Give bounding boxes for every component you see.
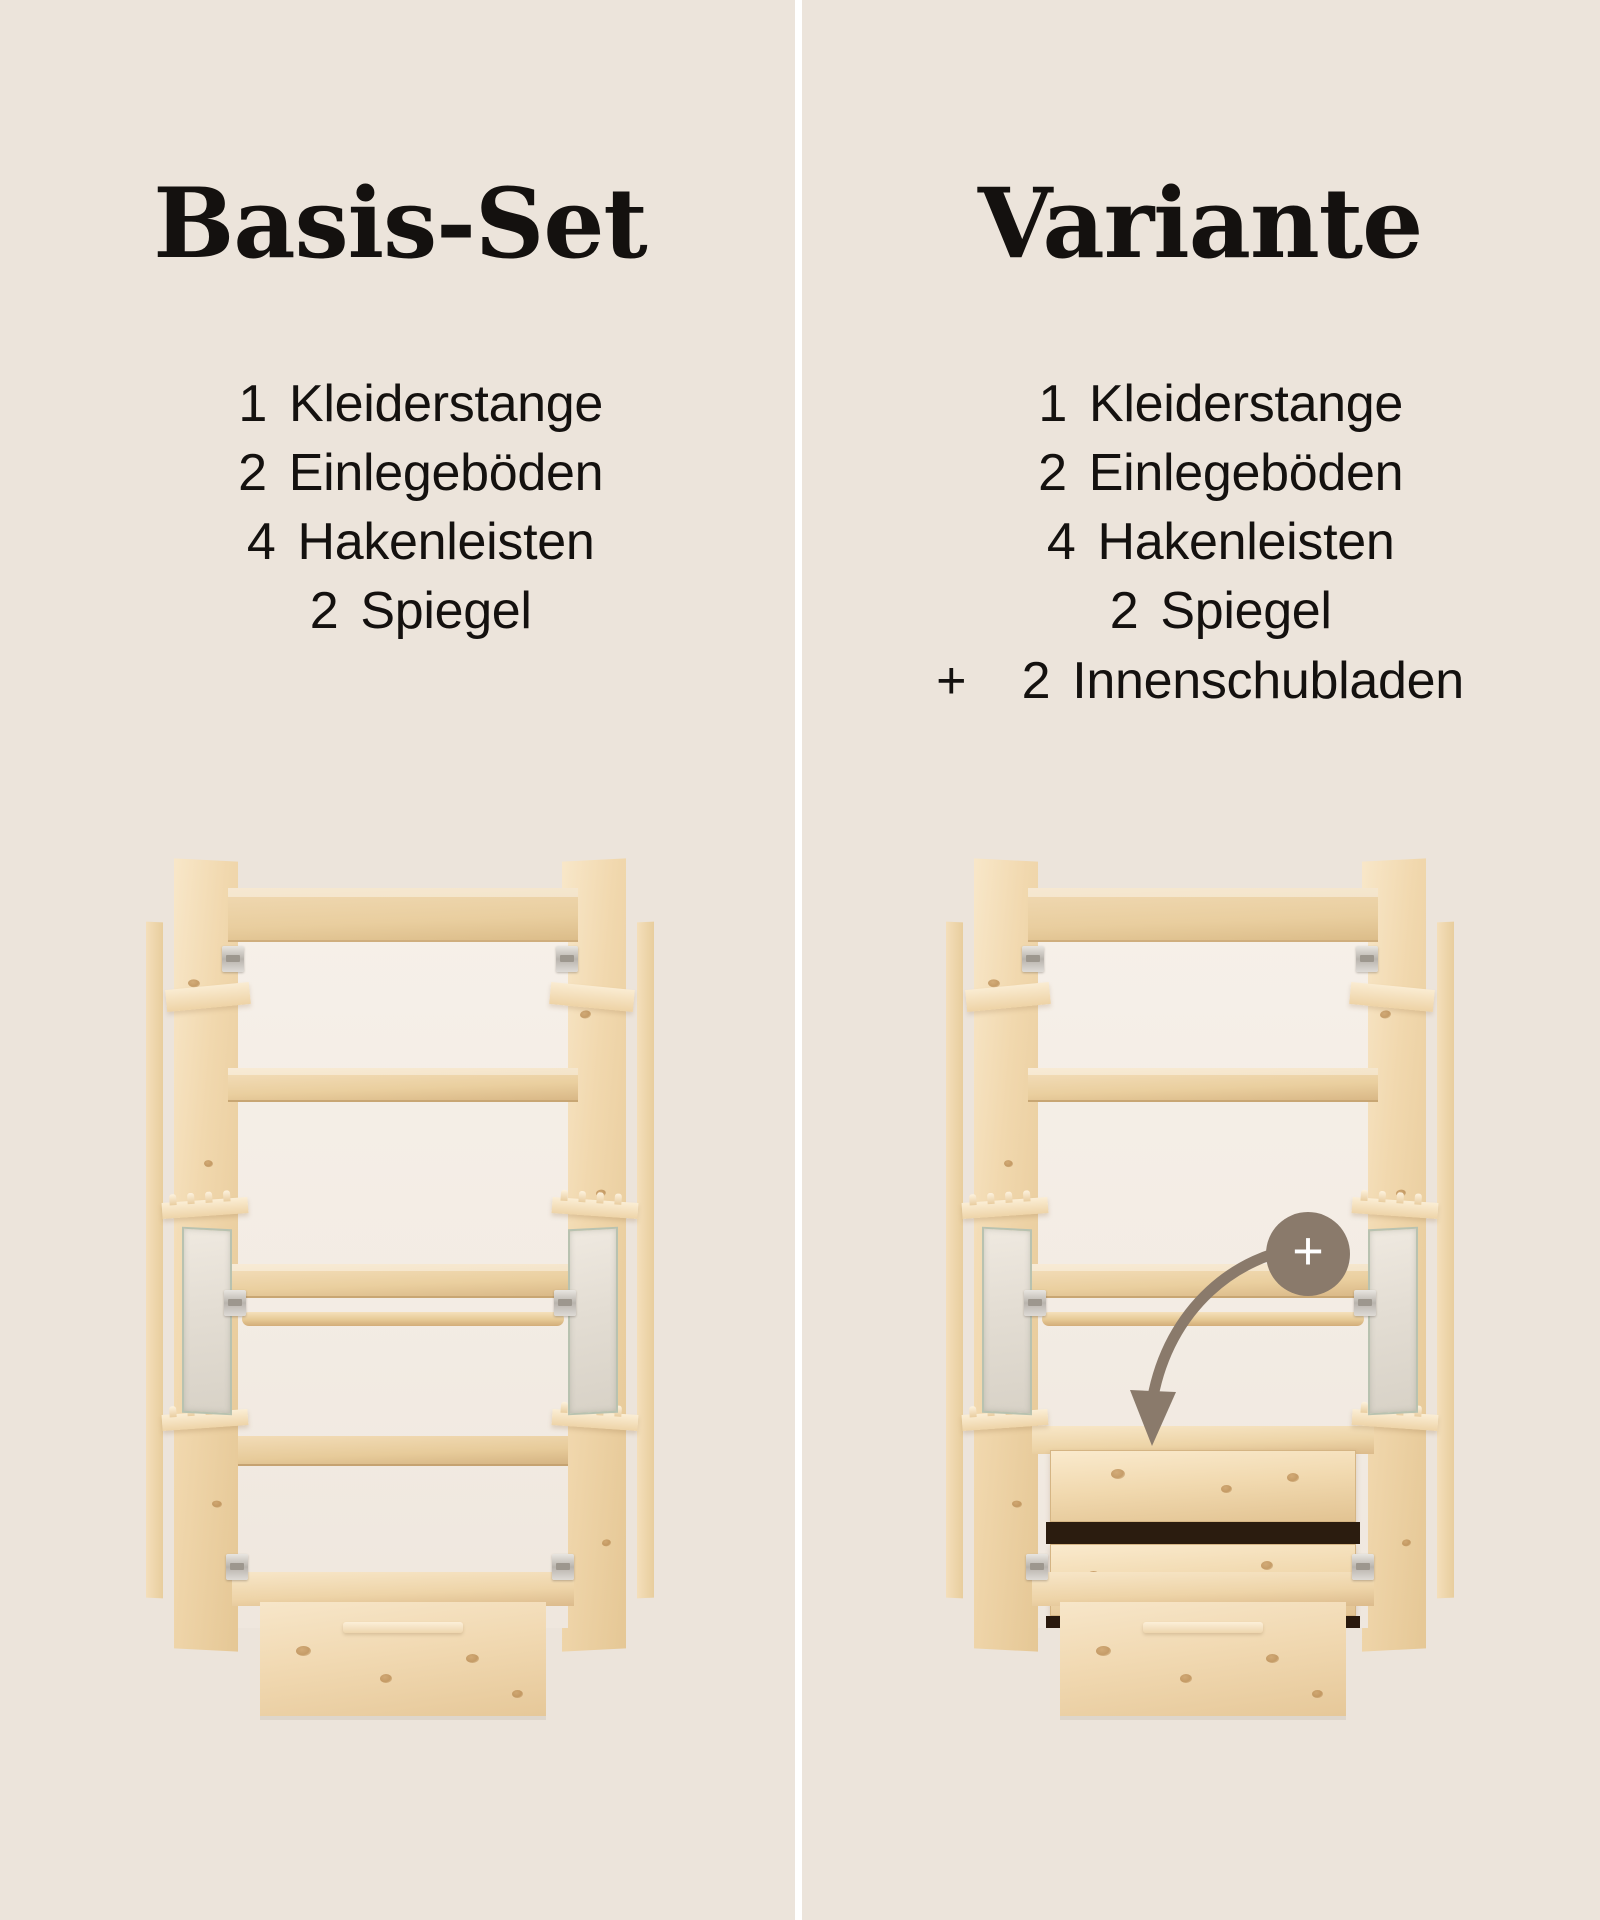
door-mirror-right [1368,1227,1418,1416]
drawer-shadow-gap [1046,1522,1360,1544]
wood-knot-icon [1180,1674,1192,1683]
hook-pin-icon [1005,1191,1013,1202]
base-drawer-handle [343,1622,463,1633]
door-mirror-left [182,1227,232,1416]
spec-label: Spiegel [360,577,531,646]
spec-row: 4 Hakenleisten [1005,508,1394,577]
wood-knot-icon [1096,1646,1111,1656]
spec-quantity: 2 [197,439,267,508]
hook-pin-icon [223,1190,231,1201]
base-drawer-handle [1143,1622,1263,1633]
spec-row: 4 Hakenleisten [205,508,594,577]
spec-label: Einlegeböden [289,439,603,508]
wood-knot-icon [602,1539,611,1546]
hook-pin-icon [614,1193,622,1204]
wood-knot-icon [466,1654,479,1663]
hinge-icon [554,1290,576,1316]
hinge-icon [1024,1290,1046,1316]
spec-label: Kleiderstange [289,370,603,439]
hook-pin-icon [560,1190,568,1201]
door-edge-right-icon [1437,922,1454,1599]
spec-label: Hakenleisten [1097,508,1394,577]
shelf-upper [1028,1068,1378,1102]
spec-quantity: 2 [997,439,1067,508]
spec-row: 2 Spiegel [1068,577,1331,646]
spec-list-variante: 1 Kleiderstange 2 Einlegeböden 4 Hakenle… [800,370,1600,716]
door-edge-left-icon [946,922,963,1599]
spec-row: 2 Einlegeböden [197,439,603,508]
door-edge-left-icon [146,922,163,1599]
hook-pin-icon [187,1193,195,1204]
plus-icon: + [1292,1224,1324,1278]
wood-knot-icon [1380,1010,1391,1019]
column-basis-set: Basis-Set 1 Kleiderstange 2 Einlegeböden… [0,0,800,1920]
page-title-variante: Variante [800,176,1600,272]
clothes-rail [242,1312,564,1326]
wood-knot-icon [1266,1654,1279,1663]
wood-knot-icon [512,1690,523,1698]
hook-pin-icon [969,1194,977,1205]
hook-pin-icon [1378,1191,1386,1202]
cabinet-interior-back-panel [238,888,568,1628]
hinge-icon [222,946,244,972]
hinge-icon [226,1554,248,1580]
hook-pin-icon [1396,1192,1404,1203]
wood-knot-icon [1261,1561,1273,1570]
wood-knot-icon [380,1674,392,1683]
spec-label: Kleiderstange [1089,370,1403,439]
hook-pin-icon [169,1194,177,1205]
hinge-icon [556,946,578,972]
spec-row: 1 Kleiderstange [997,370,1403,439]
hook-pin-icon [969,1406,977,1417]
hook-pin-icon [578,1191,586,1202]
hinge-icon [552,1554,574,1580]
spec-row-additional: + 2 Innenschubladen [936,647,1464,716]
hook-pin-icon [1023,1190,1031,1201]
spec-list-basis-set: 1 Kleiderstange 2 Einlegeböden 4 Hakenle… [0,370,800,647]
wood-knot-icon [296,1646,311,1656]
wood-knot-icon [580,1010,591,1019]
spec-quantity: 4 [205,508,275,577]
hook-pin-icon [1414,1193,1422,1204]
add-drawers-badge[interactable]: + [1266,1212,1350,1296]
cabinet-illustration-basis-set [120,860,680,1760]
spec-label: Spiegel [1160,577,1331,646]
spec-label: Hakenleisten [297,508,594,577]
spec-row: 2 Spiegel [268,577,531,646]
cabinet-bottom-board [1032,1572,1374,1606]
wood-knot-icon [1004,1160,1013,1167]
hinge-icon [1026,1554,1048,1580]
cabinet-bottom-board [232,1572,574,1606]
hook-pin-icon [205,1191,213,1202]
spec-quantity: 1 [997,370,1067,439]
hinge-icon [1356,946,1378,972]
wood-knot-icon [204,1160,213,1167]
spec-quantity: 2 [268,577,338,646]
cross-board [238,1436,568,1466]
wood-knot-icon [1312,1690,1323,1698]
page-title-basis-set: Basis-Set [0,176,800,272]
hook-pin-icon [169,1406,177,1417]
comparison-page: Basis-Set 1 Kleiderstange 2 Einlegeböden… [0,0,1600,1920]
hinge-icon [1022,946,1044,972]
spec-row: 1 Kleiderstange [197,370,603,439]
spec-row: 2 Einlegeböden [997,439,1403,508]
column-divider [795,0,802,1920]
base-drawer [1060,1602,1346,1720]
hook-pin-icon [987,1193,995,1204]
hinge-icon [1352,1554,1374,1580]
shelf-upper [228,1068,578,1102]
door-mirror-left [982,1227,1032,1416]
spec-label: Einlegeböden [1089,439,1403,508]
cabinet-illustration-variante: + [920,860,1480,1760]
base-drawer [260,1602,546,1720]
shelf-lower [228,1264,578,1298]
hook-pin-icon [1360,1190,1368,1201]
hook-pin-icon [596,1192,604,1203]
spec-quantity: 1 [197,370,267,439]
wood-knot-icon [212,1500,222,1508]
spec-plus-sign: + [936,647,966,716]
wood-knot-icon [1402,1539,1411,1546]
hinge-icon [1354,1290,1376,1316]
cabinet-top-board [1028,888,1378,942]
cabinet-top-board [228,888,578,942]
spec-quantity: 2 [1068,577,1138,646]
spec-label: Innenschubladen [1072,647,1464,716]
column-variante: Variante 1 Kleiderstange 2 Einlegeböden … [800,0,1600,1920]
door-edge-right-icon [637,922,654,1599]
spec-quantity: 4 [1005,508,1075,577]
spec-quantity: 2 [980,647,1050,716]
door-mirror-right [568,1227,618,1416]
wood-knot-icon [1012,1500,1022,1508]
hinge-icon [224,1290,246,1316]
